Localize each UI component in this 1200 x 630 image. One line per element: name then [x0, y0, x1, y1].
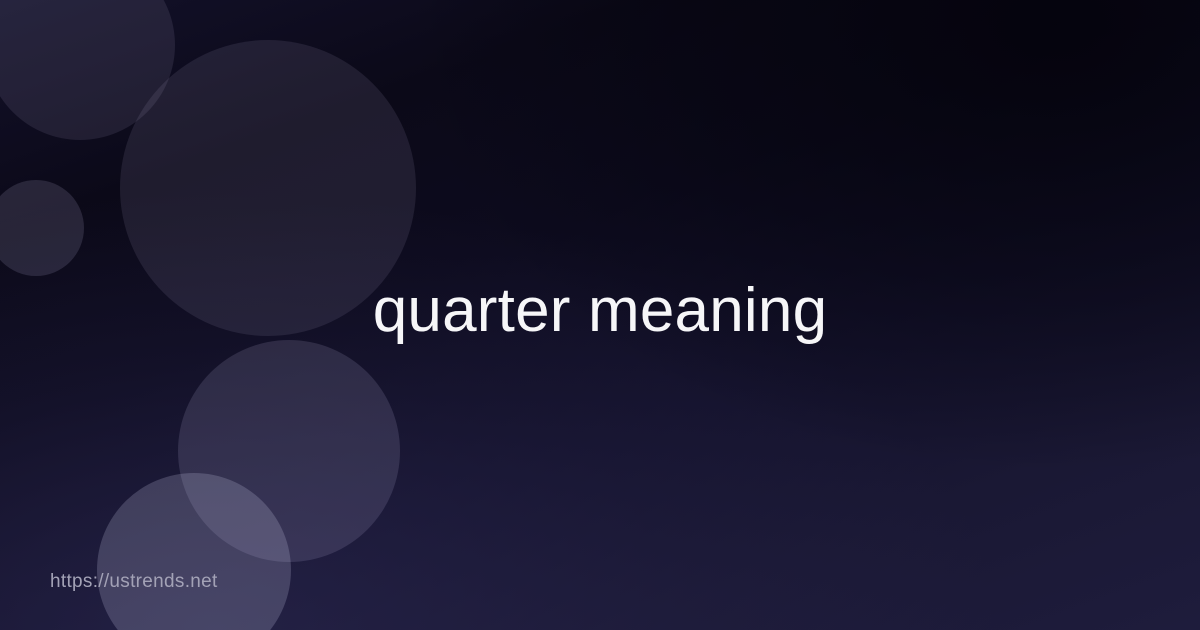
page-title: quarter meaning — [373, 276, 828, 345]
title-container: quarter meaning — [0, 246, 1200, 376]
og-image-card: quarter meaning https://ustrends.net — [0, 0, 1200, 630]
site-url-watermark: https://ustrends.net — [50, 571, 218, 593]
